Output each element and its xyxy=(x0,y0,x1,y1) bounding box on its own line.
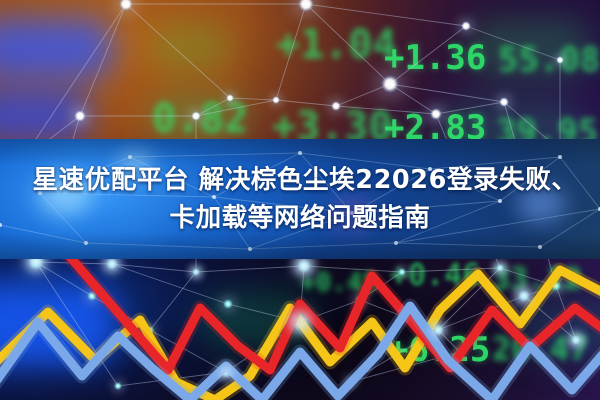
line-chart xyxy=(0,250,600,400)
banner-image: +1.04+1.3655.08 U0.82+3.30+2.8339.95 U+0… xyxy=(0,0,600,400)
title-line-2: 卡加载等网络问题指南 xyxy=(169,199,430,237)
title-line-1: 星速优配平台 解决棕色尘埃22026登录失败、 xyxy=(23,161,578,199)
title-text-block: 星速优配平台 解决棕色尘埃22026登录失败、 卡加载等网络问题指南 xyxy=(0,139,600,259)
title-banner: 星速优配平台 解决棕色尘埃22026登录失败、 卡加载等网络问题指南 xyxy=(0,139,600,259)
